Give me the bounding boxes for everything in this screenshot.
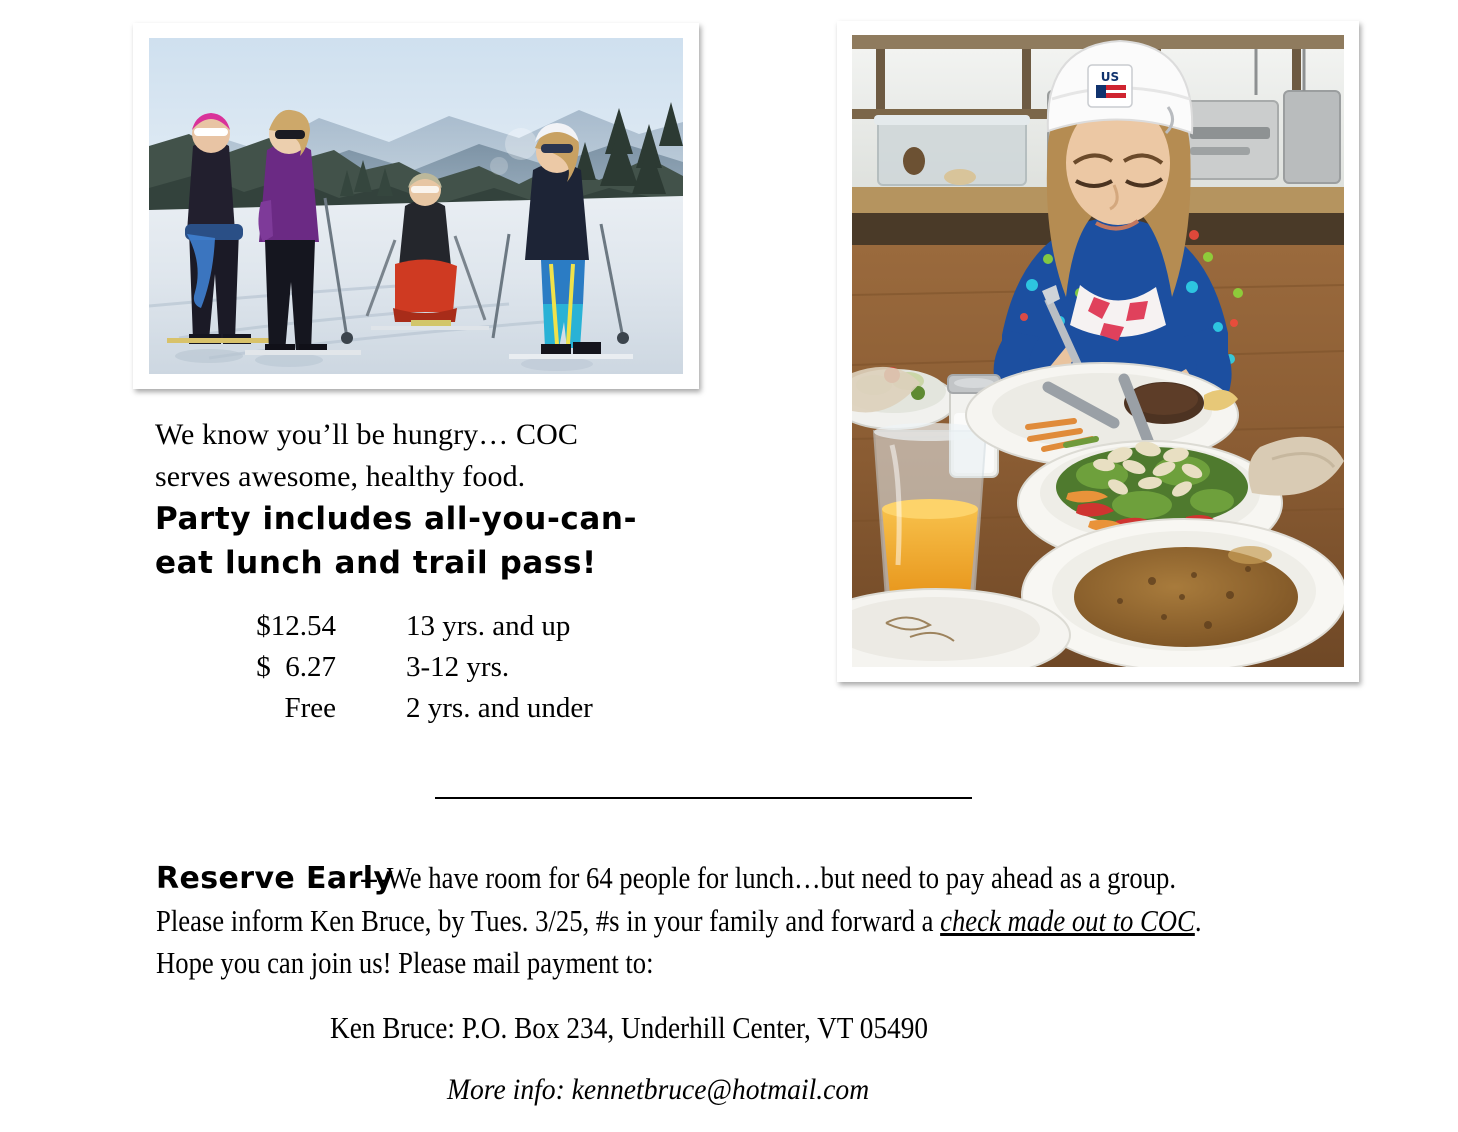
photo-lunch-image: US: [852, 35, 1344, 667]
price-table: $12.54 13 yrs. and up $ 6.27 3-12 yrs. F…: [230, 606, 593, 729]
section-divider: [435, 797, 972, 799]
price-label: 2 yrs. and under: [336, 688, 593, 729]
intro-line-2: serves awesome, healthy food.: [155, 456, 685, 498]
photo-lunch-frame: US: [837, 21, 1359, 682]
price-amount: $ 6.27: [230, 647, 336, 688]
price-amount: Free: [230, 688, 336, 729]
price-label: 3-12 yrs.: [336, 647, 593, 688]
reserve-early-heading: Reserve Early: [156, 858, 393, 900]
price-amount: $12.54: [230, 606, 336, 647]
skiers-illustration: [149, 38, 683, 374]
more-info-email: More info: kennetbruce@hotmail.com: [447, 1070, 869, 1110]
photo-skiers-frame: [133, 23, 699, 389]
mailing-address: Ken Bruce: P.O. Box 234, Underhill Cente…: [330, 1008, 928, 1048]
party-tagline: Party includes all-you-can- eat lunch an…: [155, 497, 695, 585]
lunch-illustration: US: [852, 35, 1344, 667]
table-row: Free 2 yrs. and under: [230, 688, 593, 729]
price-label: 13 yrs. and up: [336, 606, 593, 647]
photo-skiers-image: [149, 38, 683, 374]
tagline-line-1: Party includes all-you-can-: [155, 497, 695, 541]
intro-paragraph: We know you’ll be hungry… COC serves awe…: [155, 414, 685, 498]
svg-text:US: US: [1101, 70, 1119, 84]
intro-line-1: We know you’ll be hungry… COC: [155, 414, 685, 456]
table-row: $12.54 13 yrs. and up: [230, 606, 593, 647]
reserve-paragraph: Reserve Early---We have room for 64 peop…: [156, 857, 1248, 984]
check-instruction: check made out to COC: [940, 903, 1195, 938]
tagline-line-2: eat lunch and trail pass!: [155, 541, 695, 585]
table-row: $ 6.27 3-12 yrs.: [230, 647, 593, 688]
